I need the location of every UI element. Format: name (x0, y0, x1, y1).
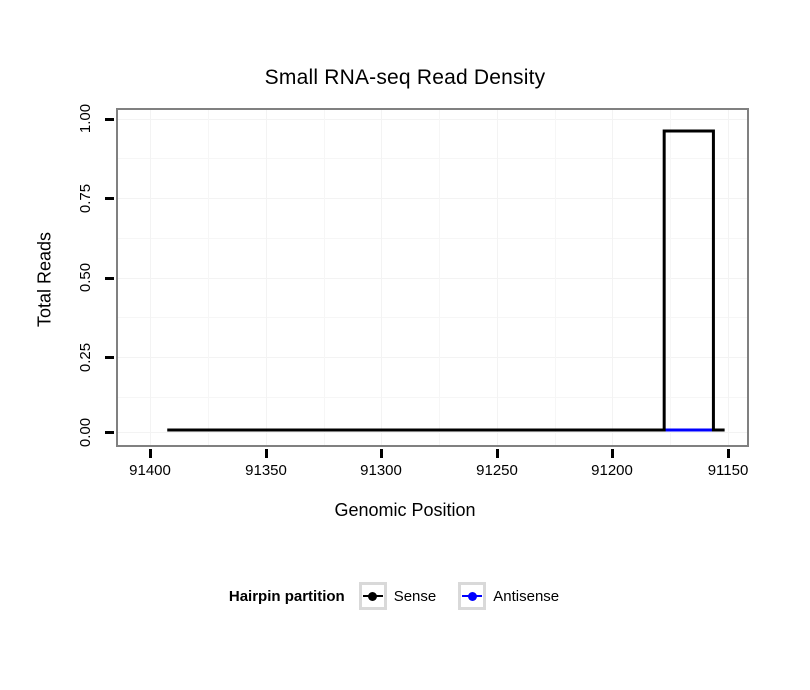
x-axis-tick (496, 449, 499, 458)
x-tick-label-91300: 91300 (336, 462, 426, 479)
legend-item-sense[interactable]: Sense (359, 582, 453, 610)
y-tick-label-0.25: 0.25 (0, 349, 100, 367)
y-tick-text: 0.25 (77, 343, 94, 372)
x-axis-tick (149, 449, 152, 458)
chart-root: Small RNA-seq Read Density Total Reads 1… (0, 0, 810, 690)
legend-item-antisense[interactable]: Antisense (458, 582, 575, 610)
legend-key-sense-icon (359, 582, 387, 610)
y-tick-label-0.75: 0.75 (0, 190, 100, 208)
y-tick-text: 1.00 (77, 104, 94, 133)
legend-label-antisense: Antisense (493, 588, 559, 605)
x-axis-tick (611, 449, 614, 458)
legend-title: Hairpin partition (229, 588, 345, 605)
x-axis-tick (265, 449, 268, 458)
x-axis-title: Genomic Position (0, 500, 810, 521)
legend: Hairpin partition Sense Antisense (0, 582, 810, 610)
x-tick-label-91350: 91350 (221, 462, 311, 479)
y-tick-text: 0.50 (77, 263, 94, 292)
data-series-layer (118, 110, 747, 445)
y-tick-label-0.00: 0.00 (0, 424, 100, 442)
series-sense-line (167, 131, 724, 430)
plot-panel (116, 108, 749, 447)
legend-key-antisense-icon (458, 582, 486, 610)
y-axis-tick (105, 277, 114, 280)
x-tick-label-91400: 91400 (105, 462, 195, 479)
x-tick-label-91200: 91200 (567, 462, 657, 479)
y-axis-tick (105, 197, 114, 200)
legend-dot-glyph (468, 592, 477, 601)
y-axis-tick (105, 431, 114, 434)
chart-title: Small RNA-seq Read Density (0, 66, 810, 90)
y-tick-text: 0.00 (77, 418, 94, 447)
x-tick-label-91250: 91250 (452, 462, 542, 479)
y-tick-label-1.00: 1.00 (0, 110, 100, 128)
x-tick-label-91150: 91150 (683, 462, 773, 479)
legend-label-sense: Sense (394, 588, 437, 605)
y-tick-text: 0.75 (77, 184, 94, 213)
legend-dot-glyph (368, 592, 377, 601)
x-axis-tick (380, 449, 383, 458)
y-axis-tick (105, 356, 114, 359)
y-tick-label-0.50: 0.50 (0, 269, 100, 287)
y-axis-tick (105, 118, 114, 121)
x-axis-tick (727, 449, 730, 458)
plot-panel-inner (118, 110, 747, 445)
